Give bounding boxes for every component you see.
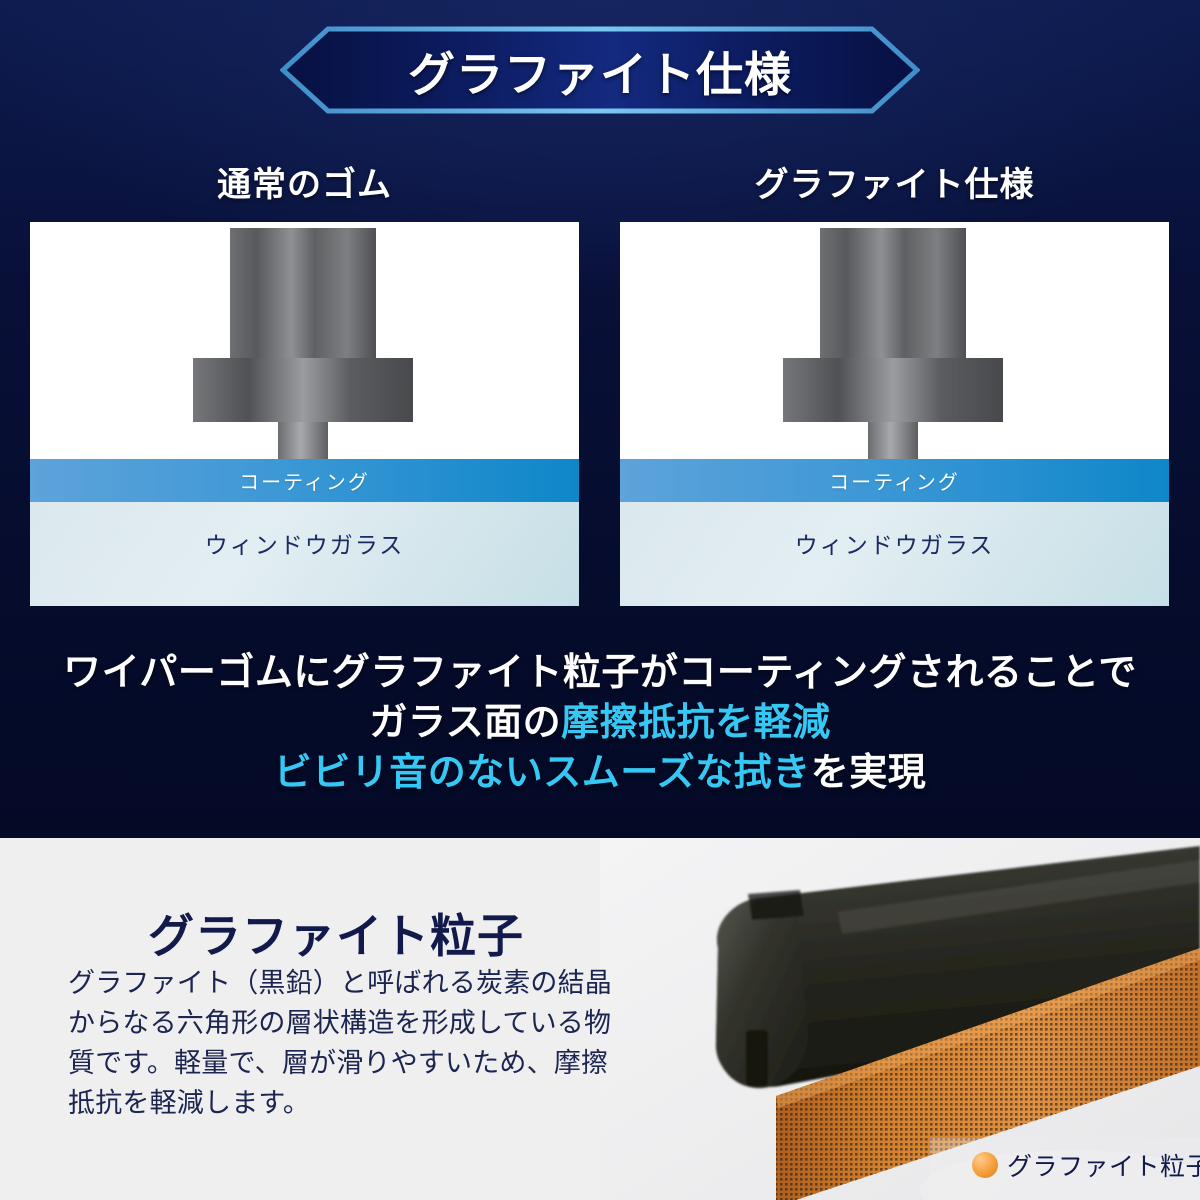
tagline-line-2-pre: ガラス面の bbox=[369, 702, 561, 744]
tagline-line-3: ビビリ音のないスムーズな拭きを実現 bbox=[0, 748, 1200, 798]
coating-label-right: コーティング bbox=[829, 466, 960, 495]
glass-layer-left: ウィンドウガラス bbox=[30, 502, 579, 606]
panel-graphite-spec: グラファイト仕様 bbox=[620, 150, 1169, 615]
coating-layer-left: コーティング bbox=[30, 459, 579, 502]
wiper-photo-illustration bbox=[600, 838, 1200, 1200]
coating-label-left: コーティング bbox=[239, 466, 370, 495]
panel-diagram-graphite: スムーズな動き 摩擦抵抗が少ない グラファイト粒子 コーティング ウィンドウガラ… bbox=[620, 222, 1169, 606]
bottom-legend: グラファイト粒子 bbox=[972, 1147, 1200, 1183]
tagline-line-2: ガラス面の摩擦抵抗を軽減 bbox=[0, 698, 1200, 748]
tagline-line-3-highlight: ビビリ音のないスムーズな拭き bbox=[274, 752, 811, 794]
bottom-section-title: グラファイト粒子 bbox=[148, 900, 524, 966]
header-banner: グラファイト仕様 bbox=[280, 26, 920, 114]
top-dark-section: グラファイト仕様 通常のゴム bbox=[0, 0, 1200, 838]
panel-heading-normal: 通常のゴム bbox=[30, 150, 579, 212]
banner-title: グラファイト仕様 bbox=[280, 26, 920, 114]
coating-layer-right: コーティング bbox=[620, 459, 1169, 502]
bottom-light-section: グラファイト粒子 グラファイト（黒鉛）と呼ばれる炭素の結晶からなる六角形の層状構… bbox=[0, 838, 1200, 1200]
tagline-block: ワイパーゴムにグラファイト粒子がコーティングされることで ガラス面の摩擦抵抗を軽… bbox=[0, 648, 1200, 798]
product-infographic: グラファイト仕様 通常のゴム bbox=[0, 0, 1200, 1200]
bottom-section-body: グラファイト（黒鉛）と呼ばれる炭素の結晶からなる六角形の層状構造を形成している物… bbox=[68, 964, 628, 1124]
graphite-particle-legend-icon bbox=[972, 1152, 998, 1178]
tagline-line-1: ワイパーゴムにグラファイト粒子がコーティングされることで bbox=[0, 648, 1200, 698]
panel-normal-rubber: 通常のゴム bbox=[30, 150, 579, 615]
panel-heading-graphite: グラファイト仕様 bbox=[620, 150, 1169, 212]
glass-layer-right: ウィンドウガラス bbox=[620, 502, 1169, 606]
bottom-legend-label: グラファイト粒子 bbox=[1007, 1147, 1200, 1183]
wiper-blade-photo bbox=[600, 838, 1200, 1200]
glass-label-left: ウィンドウガラス bbox=[205, 526, 405, 560]
tagline-line-3-post: を実現 bbox=[811, 752, 927, 794]
panel-diagram-normal: 摩擦抵抗が大きい 摩擦でビビリ音 コーティング ウィンドウガラス bbox=[30, 222, 579, 606]
glass-label-right: ウィンドウガラス bbox=[795, 526, 995, 560]
tagline-line-2-highlight: 摩擦抵抗を軽減 bbox=[561, 702, 831, 744]
